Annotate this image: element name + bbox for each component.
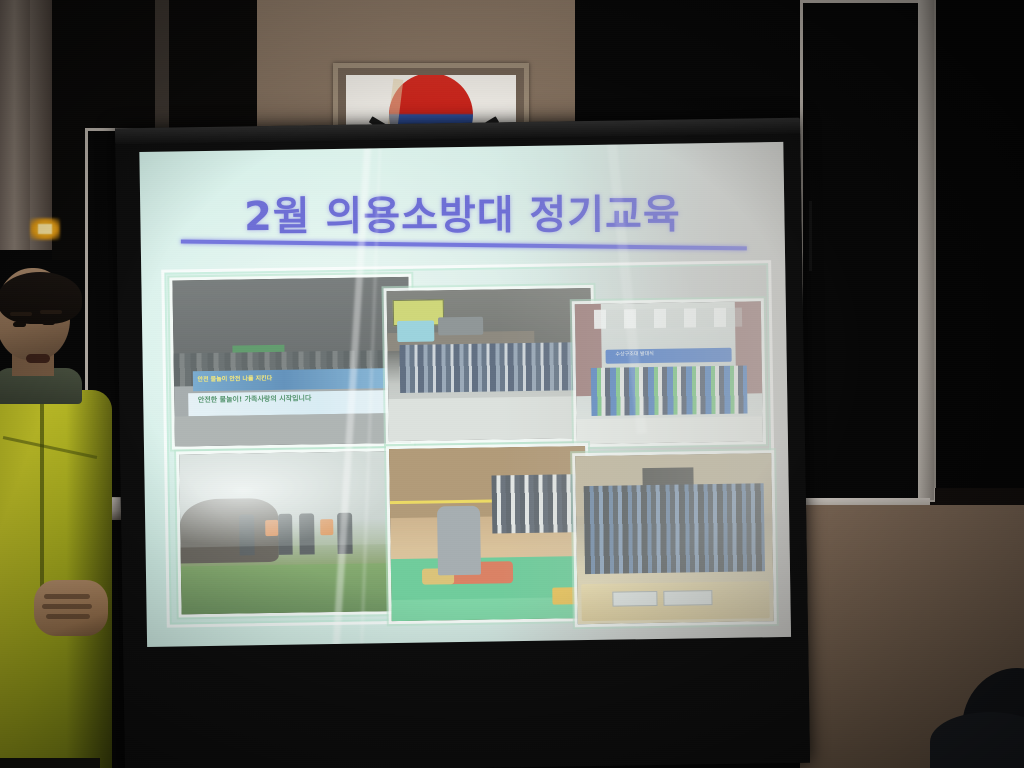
finger	[44, 594, 90, 599]
eye	[42, 320, 55, 325]
far-right-window	[934, 0, 1024, 488]
glass-reflection	[809, 201, 812, 271]
eyebrow	[40, 310, 62, 314]
photo-scene: 2월 의용소방대 정기교육 안전 물놀이 안전 나를 지킨다 안전한 물놀이! …	[0, 0, 1024, 768]
clasped-hands	[34, 580, 108, 636]
projection-screen: 2월 의용소방대 정기교육 안전 물놀이 안전 나를 지킨다 안전한 물놀이! …	[115, 118, 810, 768]
eye	[13, 322, 26, 327]
finger	[46, 614, 90, 619]
right-window	[800, 0, 935, 502]
hair	[0, 272, 82, 324]
head	[0, 268, 70, 360]
lamp-core	[38, 224, 52, 234]
trousers	[0, 758, 100, 768]
projected-slide: 2월 의용소방대 정기교육 안전 물놀이 안전 나를 지킨다 안전한 물놀이! …	[139, 142, 791, 647]
jacket-shadow	[66, 390, 112, 768]
door-frame	[155, 0, 169, 135]
presenter	[0, 250, 118, 768]
left-pillar-inner	[30, 0, 52, 250]
left-pillar	[0, 0, 32, 250]
finger	[42, 604, 92, 609]
jacket-zipper	[40, 400, 44, 600]
eyebrow	[10, 312, 32, 316]
projector-hotspot-wash	[139, 142, 791, 647]
mouth	[26, 354, 50, 363]
window-mullion	[918, 0, 934, 500]
